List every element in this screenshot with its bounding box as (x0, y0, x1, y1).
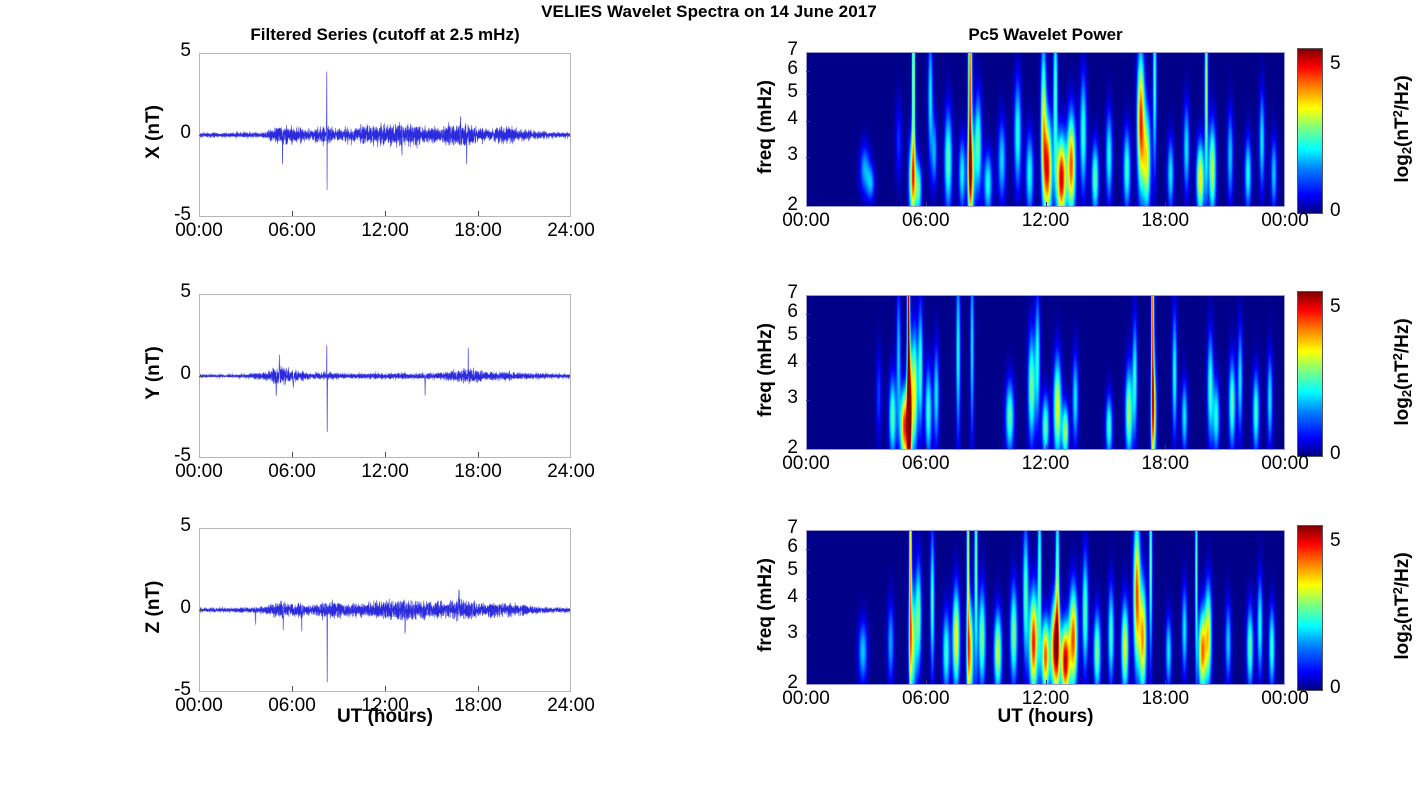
ytick-right-0-3 (806, 121, 810, 122)
timeseries-axes-x (199, 53, 571, 217)
xaxis-title-right: UT (hours) (806, 706, 1285, 728)
timeseries-plot-x (200, 54, 570, 216)
xtick-left-0-2 (385, 211, 386, 216)
ytick-right-2-4 (806, 635, 810, 636)
ytick-left-0-1 (199, 135, 204, 136)
colorbar-title-2: log2(nT2/Hz) (1390, 511, 1414, 701)
timeseries-plot-y (200, 295, 570, 457)
colorbar-tick-5-2: 5 (1330, 530, 1341, 552)
faxis-title-z: freq (mHz) (755, 480, 777, 730)
xticklabel-left-1-1: 06:00 (246, 461, 338, 483)
spectrogram-axes-z (806, 530, 1285, 685)
yaxis-title-y: Y (nT) (143, 248, 165, 498)
xtick-left-2-1 (292, 686, 293, 691)
xtick-right-1-2 (1046, 445, 1047, 449)
ytick-right-1-4 (806, 400, 810, 401)
xtick-right-0-1 (926, 202, 927, 206)
ytick-right-2-2 (806, 572, 810, 573)
right-column-title: Pc5 Wavelet Power (806, 25, 1285, 45)
spectrogram-plot-z (807, 531, 1284, 684)
left-column-title: Filtered Series (cutoff at 2.5 mHz) (199, 25, 571, 45)
xticklabel-right-1-2: 12:00 (1000, 453, 1092, 475)
xticklabel-left-1-3: 18:00 (432, 461, 524, 483)
xticklabel-right-1-1: 06:00 (880, 453, 972, 475)
xtick-right-0-2 (1046, 202, 1047, 206)
ytick-right-2-3 (806, 599, 810, 600)
colorbar-y (1297, 291, 1323, 457)
xtick-right-2-1 (926, 680, 927, 684)
ytick-left-1-1 (199, 376, 204, 377)
colorbar-tick-0-2: 0 (1330, 677, 1341, 699)
yaxis-title-x: X (nT) (143, 7, 165, 257)
colorbar-title-1: log2(nT2/Hz) (1390, 277, 1414, 467)
ytick-right-0-1 (806, 71, 810, 72)
colorbar-x (1297, 48, 1323, 214)
spectrogram-plot-x (807, 53, 1284, 206)
xticklabel-right-0-3: 18:00 (1119, 210, 1211, 232)
xtick-left-1-2 (385, 452, 386, 457)
spectrogram-axes-y (806, 295, 1285, 450)
figure-canvas: VELIES Wavelet Spectra on 14 June 2017 F… (0, 0, 1418, 788)
xticklabel-left-0-2: 12:00 (339, 220, 431, 242)
timeseries-axes-y (199, 294, 571, 458)
xtick-right-1-1 (926, 445, 927, 449)
ytick-left-2-1 (199, 610, 204, 611)
ytick-right-2-1 (806, 549, 810, 550)
xticklabel-left-1-4: 24:00 (525, 461, 617, 483)
colorbar-tick-0-0: 0 (1330, 200, 1341, 222)
xtick-left-1-1 (292, 452, 293, 457)
xticklabel-left-0-4: 24:00 (525, 220, 617, 242)
xticklabel-left-0-1: 06:00 (246, 220, 338, 242)
xticklabel-left-0-3: 18:00 (432, 220, 524, 242)
yaxis-title-z: Z (nT) (143, 482, 165, 732)
xtick-right-2-2 (1046, 680, 1047, 684)
xtick-left-2-2 (385, 686, 386, 691)
ytick-right-0-4 (806, 157, 810, 158)
spectrogram-axes-x (806, 52, 1285, 207)
xaxis-title-left: UT (hours) (199, 706, 571, 728)
timeseries-axes-z (199, 528, 571, 692)
colorbar-tick-5-0: 5 (1330, 53, 1341, 75)
xtick-left-0-1 (292, 211, 293, 216)
xtick-right-1-3 (1165, 445, 1166, 449)
xticklabel-right-1-3: 18:00 (1119, 453, 1211, 475)
colorbar-tick-0-1: 0 (1330, 443, 1341, 465)
timeseries-plot-z (200, 529, 570, 691)
xtick-left-1-3 (478, 452, 479, 457)
xtick-left-2-3 (478, 686, 479, 691)
ytick-right-0-2 (806, 94, 810, 95)
colorbar-title-0: log2(nT2/Hz) (1390, 34, 1414, 224)
faxis-title-y: freq (mHz) (755, 245, 777, 495)
xticklabel-left-1-2: 12:00 (339, 461, 431, 483)
xtick-left-0-3 (478, 211, 479, 216)
colorbar-z (1297, 525, 1323, 691)
faxis-title-x: freq (mHz) (755, 2, 777, 252)
ytick-right-1-3 (806, 364, 810, 365)
xtick-right-0-3 (1165, 202, 1166, 206)
figure-suptitle: VELIES Wavelet Spectra on 14 June 2017 (0, 2, 1418, 22)
xticklabel-right-1-4: 00:00 (1239, 453, 1331, 475)
xtick-right-2-3 (1165, 680, 1166, 684)
ytick-right-1-2 (806, 337, 810, 338)
xticklabel-right-0-4: 00:00 (1239, 210, 1331, 232)
xticklabel-right-0-2: 12:00 (1000, 210, 1092, 232)
colorbar-tick-5-1: 5 (1330, 296, 1341, 318)
spectrogram-plot-y (807, 296, 1284, 449)
xticklabel-right-0-1: 06:00 (880, 210, 972, 232)
ytick-right-1-1 (806, 314, 810, 315)
